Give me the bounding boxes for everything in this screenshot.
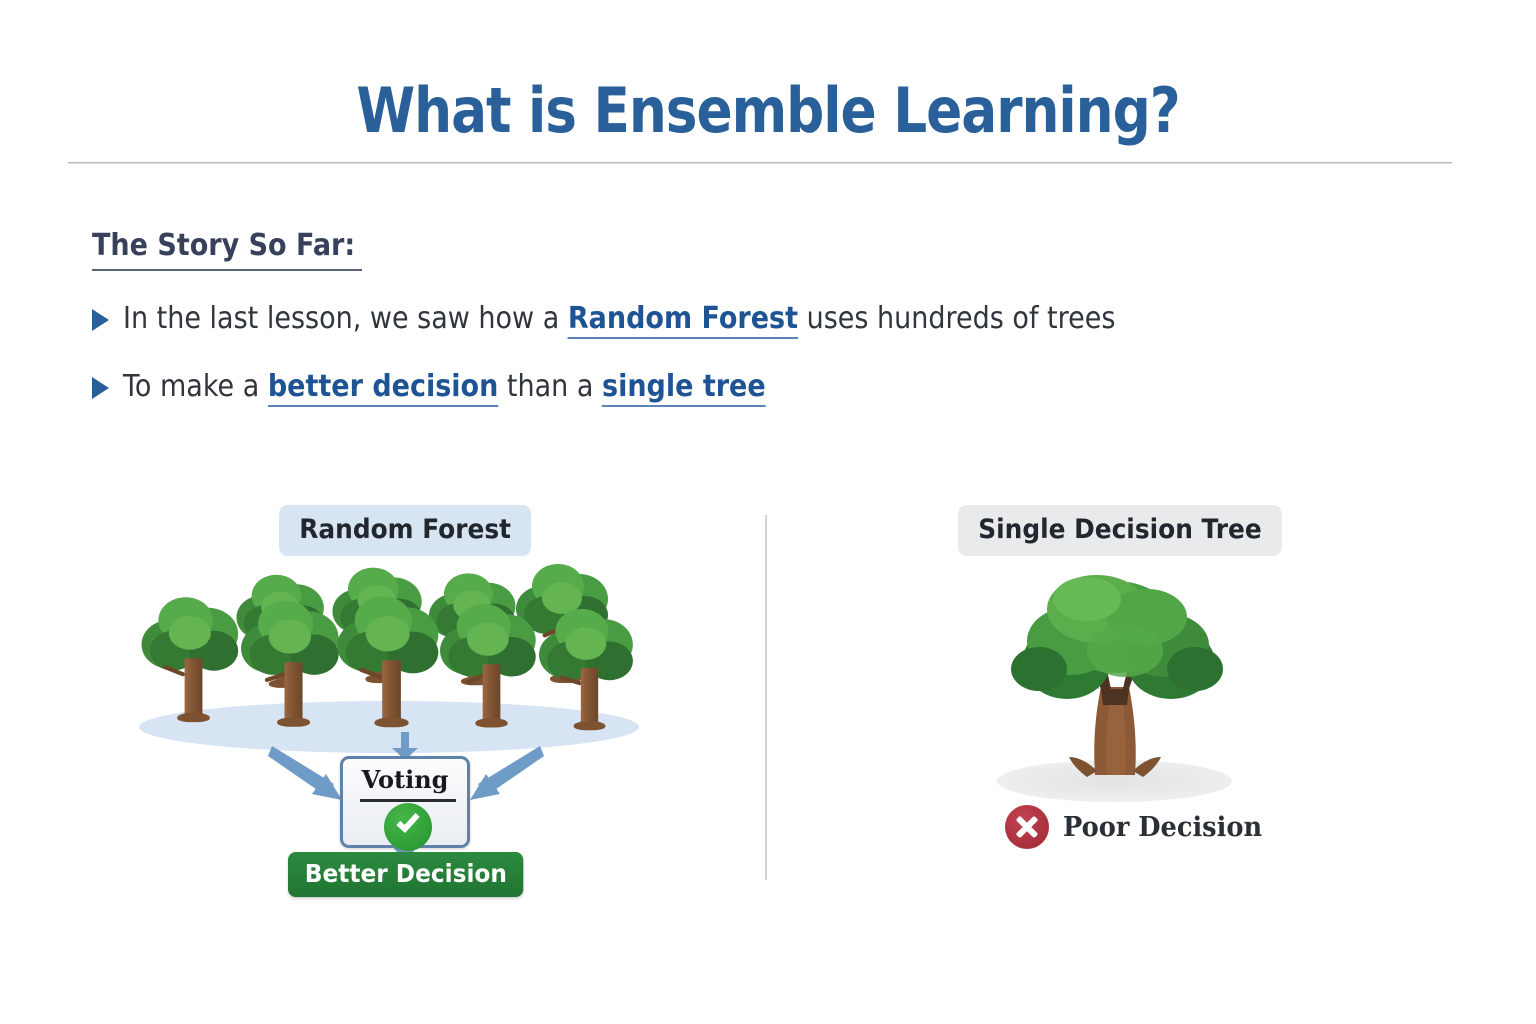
slide-canvas: What is Ensemble Learning? The Story So … [0,0,1536,1024]
bullet-2-middle: than a [498,369,602,404]
random-forest-diagram: Voting Better Decision [120,560,660,900]
bullet-2-text: To make a better decision than a single … [123,369,766,404]
panel-divider [765,515,767,880]
bullet-1-highlight: Random Forest [568,301,798,339]
poor-decision-label: Poor Decision [1063,812,1262,843]
bullet-2-lead: To make a [123,369,268,404]
section-heading: The Story So Far: [92,228,355,263]
bullet-2-highlight-1: better decision [268,369,498,407]
bullet-2-highlight-2: single tree [602,369,766,407]
bullet-1-lead: In the last lesson, we saw how a [123,301,568,336]
voting-label: Voting [343,765,467,794]
tree-canopy-group [1011,575,1223,699]
check-circle-icon [384,803,432,851]
bullet-1-tail: uses hundreds of trees [798,301,1115,336]
check-mark-glyph [396,809,420,833]
single-tree-diagram: Poor Decision [975,565,1255,885]
voting-arrows [120,560,660,900]
single-decision-tree-illustration [975,565,1255,805]
title-divider [68,162,1452,164]
better-decision-banner: Better Decision [288,852,524,897]
single-tree-panel-label: Single Decision Tree [958,505,1282,556]
voting-label-underline [360,799,456,802]
bullet-item-2: To make a better decision than a single … [92,369,837,404]
x-circle-icon [1005,805,1049,849]
triangle-bullet-icon [92,309,109,331]
bullet-item-1: In the last lesson, we saw how a Random … [92,301,1226,336]
random-forest-panel-label: Random Forest [279,505,531,556]
bullet-1-text: In the last lesson, we saw how a Random … [123,301,1115,336]
triangle-bullet-icon [92,377,109,399]
page-title: What is Ensemble Learning? [108,74,1429,147]
section-heading-underline [92,269,362,271]
poor-decision-row: Poor Decision [1005,805,1273,849]
voting-box: Voting [340,756,470,848]
